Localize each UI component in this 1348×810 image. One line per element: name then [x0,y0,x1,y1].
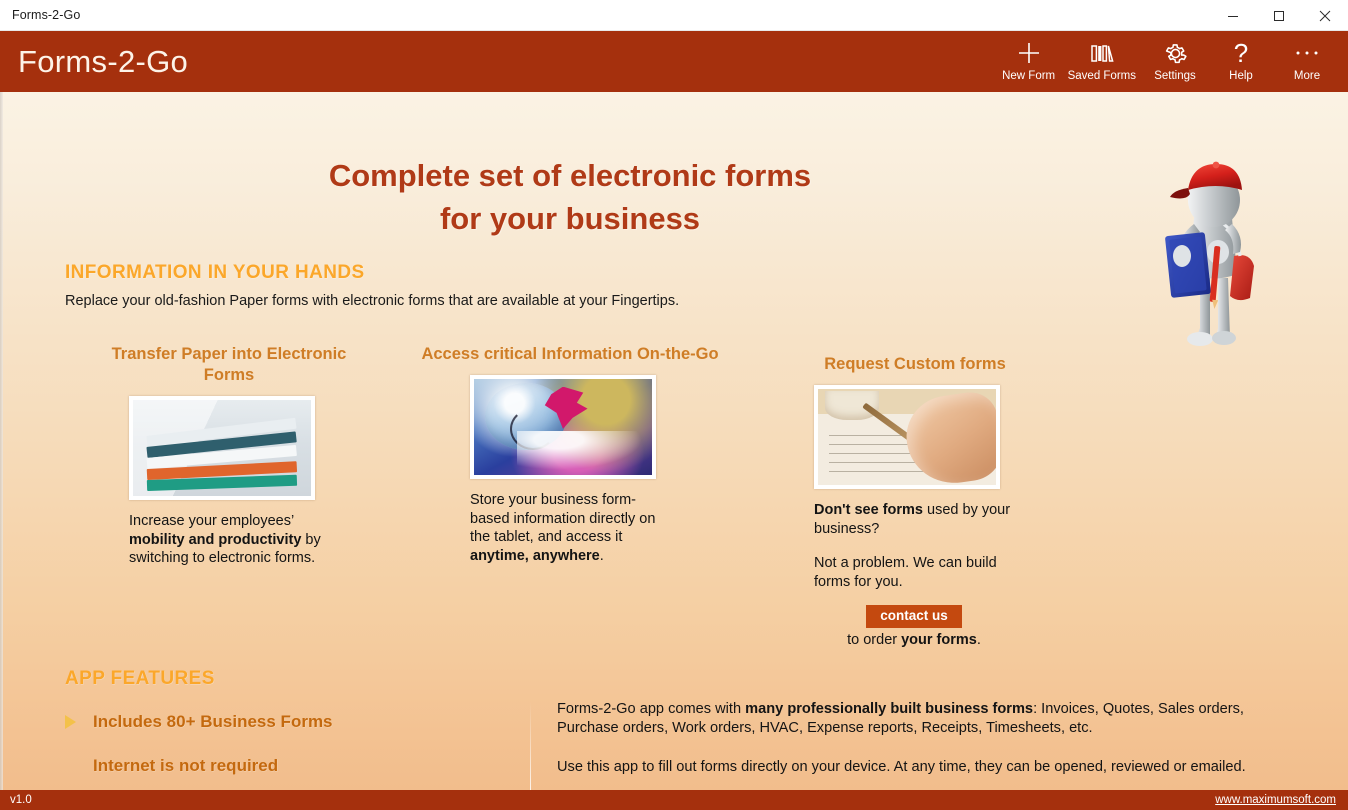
books-icon [1088,38,1116,68]
vertical-divider [530,702,531,790]
section-title-information: INFORMATION IN YOUR HANDS [65,262,365,284]
app-features-list: Includes 80+ Business Forms Internet is … [65,700,495,788]
page-title: Complete set of electronic forms for you… [0,154,1140,240]
column-image-paper-folders [129,396,315,500]
toolbar-item-help[interactable]: ? Help [1208,31,1274,83]
page-title-line-1: Complete set of electronic forms [0,154,1140,197]
cta-container: contact us to order your forms. [814,605,1014,648]
contact-us-button[interactable]: contact us [866,605,962,628]
column-body-bold: anytime, anywhere [470,548,600,564]
website-link[interactable]: www.maximumsoft.com [1215,794,1336,806]
features-paragraph-2: Use this app to fill out forms directly … [557,758,1247,777]
ellipsis-icon [1294,38,1320,68]
section-title-app-features: APP FEATURES [65,668,215,690]
column-body: Increase your employees’ mobility and pr… [129,512,344,568]
feature-item-label: Includes 80+ Business Forms [93,712,333,732]
app-header-bar: Forms-2-Go New Form [0,31,1348,92]
toolbar-label-more: More [1294,69,1320,83]
column-image-hand-writing [814,385,1000,489]
window-title: Forms-2-Go [12,8,80,22]
column-body-bold: mobility and productivity [129,532,301,548]
cta-subtext-pre: to order [847,632,901,648]
app-brand-title: Forms-2-Go [18,46,188,77]
feature-column-access-on-the-go: Access critical Information On-the-Go St… [420,344,720,565]
application-window: Forms-2-Go Forms-2-Go [0,0,1348,810]
feature-item-label: Internet is not required [93,756,278,776]
app-toolbar: New Form Saved Forms [996,31,1340,92]
toolbar-label-help: Help [1229,69,1253,83]
version-label: v1.0 [10,794,32,806]
features-paragraph-1-bold: many professionally built business forms [745,701,1033,717]
cta-subtext-post: . [977,632,981,648]
feature-column-request-custom-forms: Request Custom forms Don't see forms use… [800,354,1030,648]
cta-subtext-bold: your forms [901,632,977,648]
minimize-button[interactable] [1210,0,1256,31]
features-paragraph-1: Forms-2-Go app comes with many professio… [557,700,1247,738]
column-title: Access critical Information On-the-Go [420,344,720,365]
toolbar-label-new-form: New Form [1002,69,1055,83]
features-paragraph-1-pre: Forms-2-Go app comes with [557,701,745,717]
maximize-icon [1273,10,1285,22]
column-body: Store your business form-based informati… [470,491,675,565]
column-body: Don't see forms used by your business? [814,501,1014,538]
triangle-bullet-icon-hidden [65,759,93,773]
close-icon [1319,10,1331,22]
column-body-pre: Increase your employees’ [129,513,294,529]
toolbar-item-saved-forms[interactable]: Saved Forms [1062,31,1142,83]
toolbar-label-settings: Settings [1154,69,1196,83]
maximize-button[interactable] [1256,0,1302,31]
column-image-globe [470,375,656,479]
feature-column-transfer-paper: Transfer Paper into Electronic Forms Inc… [99,344,359,568]
column-body-secondary: Not a problem. We can build forms for yo… [814,554,1014,591]
column-title: Request Custom forms [800,354,1030,375]
page-title-line-2: for your business [0,197,1140,240]
feature-item-internet-not-required: Internet is not required [65,744,495,788]
toolbar-label-saved-forms: Saved Forms [1068,69,1136,83]
question-mark-icon: ? [1234,38,1248,68]
triangle-bullet-icon [65,715,93,729]
section-subtitle-information: Replace your old-fashion Paper forms wit… [65,293,679,309]
main-content-area: Complete set of electronic forms for you… [0,92,1348,790]
column-body-bold: Don't see forms [814,502,923,518]
column-title: Transfer Paper into Electronic Forms [99,344,359,386]
cta-subtext: to order your forms. [814,632,1014,648]
footer-bar: v1.0 www.maximumsoft.com [0,790,1348,810]
toolbar-item-settings[interactable]: Settings [1142,31,1208,83]
mascot-character-icon [1148,142,1278,357]
app-features-copy: Forms-2-Go app comes with many professio… [557,700,1247,790]
toolbar-item-more[interactable]: More [1274,31,1340,83]
window-title-bar: Forms-2-Go [0,0,1348,31]
window-controls [1210,0,1348,31]
plus-icon [1015,38,1043,68]
column-body-pre: Store your business form-based informati… [470,492,655,545]
toolbar-item-new-form[interactable]: New Form [996,31,1062,83]
gear-icon [1162,38,1189,68]
column-body-post: . [600,548,604,564]
feature-item-includes-forms: Includes 80+ Business Forms [65,700,495,744]
minimize-icon [1227,10,1239,22]
close-button[interactable] [1302,0,1348,31]
